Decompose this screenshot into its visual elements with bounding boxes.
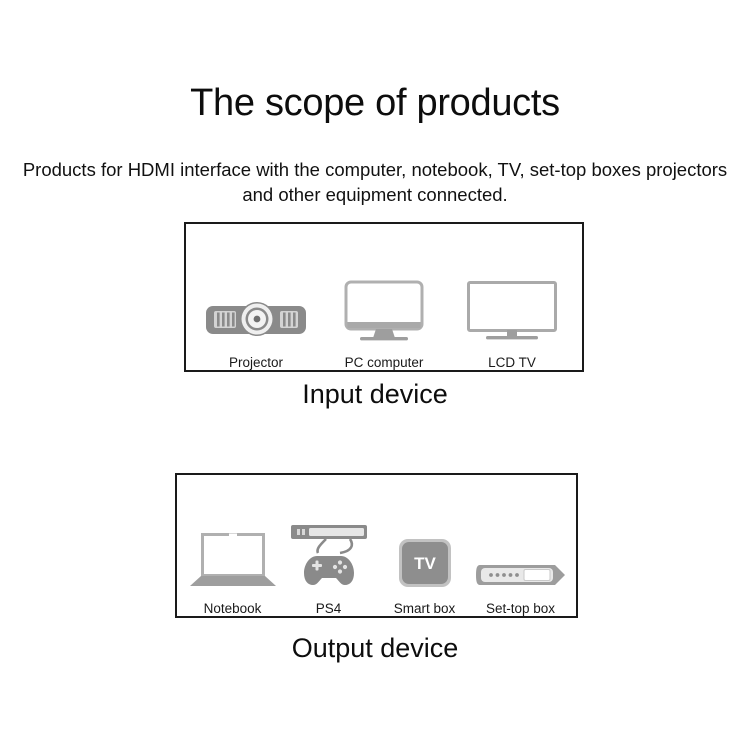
output-device-box: Notebook bbox=[175, 473, 578, 618]
device-label: Set-top box bbox=[486, 601, 555, 616]
device-label: Smart box bbox=[394, 601, 456, 616]
smart-tv-box-icon: TV bbox=[397, 537, 453, 589]
input-device-box: Projector PC computer bbox=[184, 222, 584, 372]
set-top-box-icon bbox=[475, 561, 567, 589]
set-top-box-art bbox=[475, 517, 567, 589]
device-item-notebook[interactable]: Notebook bbox=[185, 517, 281, 616]
game-console-art bbox=[290, 517, 368, 589]
smart-box-glyph: TV bbox=[414, 554, 436, 573]
lcd-tv-icon bbox=[466, 280, 558, 342]
device-item-set-top-box[interactable]: Set-top box bbox=[473, 517, 569, 616]
device-item-smart-box[interactable]: TV Smart box bbox=[377, 517, 473, 616]
smart-box-art: TV bbox=[397, 517, 453, 589]
output-device-caption: Output device bbox=[0, 633, 750, 664]
laptop-icon bbox=[190, 531, 276, 589]
device-label: LCD TV bbox=[488, 355, 536, 370]
device-item-projector[interactable]: Projector bbox=[192, 280, 320, 370]
device-label: Projector bbox=[229, 355, 283, 370]
page-title: The scope of products bbox=[0, 83, 750, 125]
device-item-pc-computer[interactable]: PC computer bbox=[320, 280, 448, 370]
projector-icon bbox=[204, 296, 308, 342]
device-item-lcd-tv[interactable]: LCD TV bbox=[448, 280, 576, 370]
game-console-gamepad-icon bbox=[290, 523, 368, 589]
device-item-ps4[interactable]: PS4 bbox=[281, 517, 377, 616]
desktop-monitor-art bbox=[343, 280, 425, 342]
laptop-art bbox=[190, 517, 276, 589]
desktop-monitor-icon bbox=[343, 280, 425, 342]
device-label: PC computer bbox=[345, 355, 424, 370]
output-device-row: Notebook bbox=[177, 475, 576, 634]
lcd-tv-art bbox=[466, 280, 558, 342]
input-device-caption: Input device bbox=[0, 379, 750, 410]
page-subtitle: Products for HDMI interface with the com… bbox=[12, 158, 738, 208]
projector-art bbox=[204, 280, 308, 342]
device-label: Notebook bbox=[204, 601, 262, 616]
input-device-row: Projector PC computer bbox=[186, 224, 582, 392]
device-label: PS4 bbox=[316, 601, 342, 616]
